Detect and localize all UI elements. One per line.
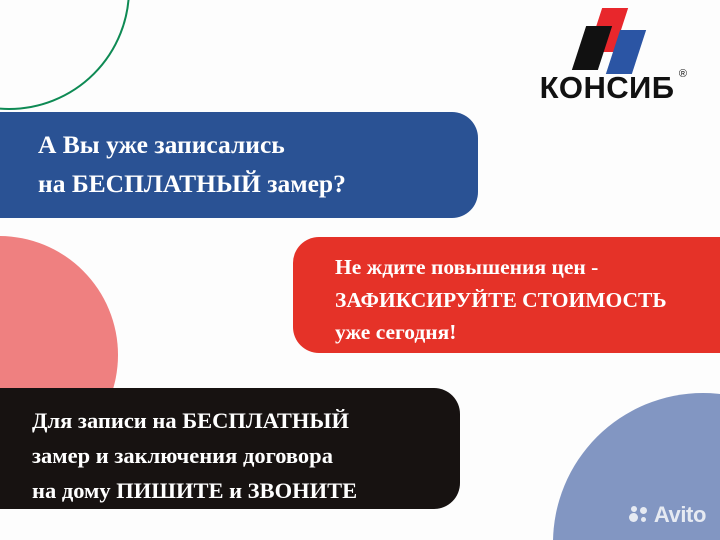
avito-dot-large-icon [629,513,638,522]
avito-wordmark: Avito [654,504,706,526]
advertisement-canvas: КОНСИБ ® А Вы уже записались на БЕСПЛАТН… [0,0,720,540]
banner-black-line-1: Для записи на БЕСПЛАТНЫЙ [32,404,460,439]
banner-red-urgency: Не ждите повышения цен - ЗАФИКСИРУЙТЕ СТ… [293,237,720,353]
banner-blue-line-2: на БЕСПЛАТНЫЙ замер? [38,165,478,204]
banner-blue-line-1: А Вы уже записались [38,126,478,165]
banner-red-line-1: Не ждите повышения цен - [335,251,720,284]
company-logo: КОНСИБ ® [512,8,702,103]
avito-dot-small-bottom-icon [641,517,646,522]
banner-black-line-3: на дому ПИШИТЕ и ЗВОНИТЕ [32,474,460,509]
banner-red-line-3: уже сегодня! [335,316,720,349]
logo-mark-icon [571,8,643,70]
banner-black-cta: Для записи на БЕСПЛАТНЫЙ замер и заключе… [0,388,460,509]
avito-dots-icon [629,505,649,525]
banner-blue-headline: А Вы уже записались на БЕСПЛАТНЫЙ замер? [0,112,478,218]
avito-dot-medium-icon [640,507,647,514]
avito-watermark: Avito [629,504,706,526]
green-ring-decoration [0,0,130,110]
logo-name-text: КОНСИБ [540,70,675,105]
avito-dot-small-top-icon [631,506,637,512]
logo-wordmark: КОНСИБ ® [540,72,675,103]
banner-black-line-2: замер и заключения договора [32,439,460,474]
registered-trademark-icon: ® [679,69,688,80]
banner-red-line-2: ЗАФИКСИРУЙТЕ СТОИМОСТЬ [335,284,720,317]
